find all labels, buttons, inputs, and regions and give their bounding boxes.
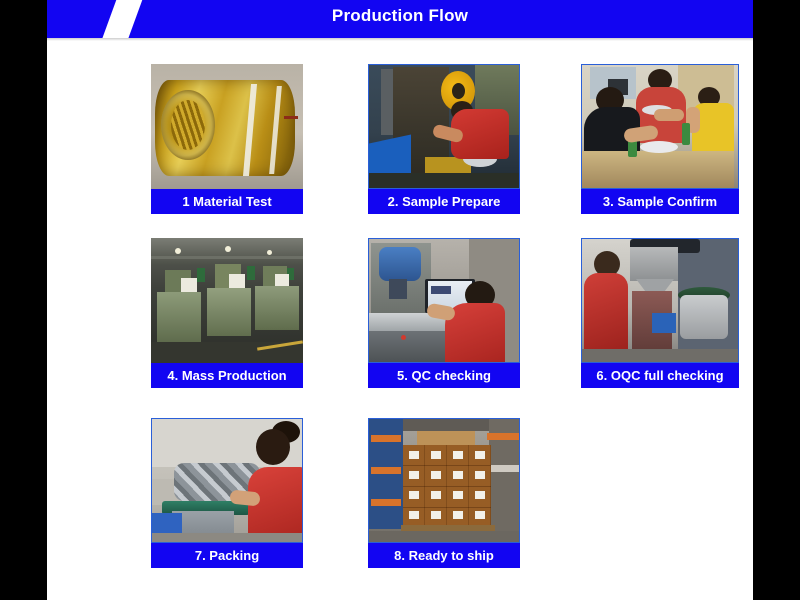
flow-step-4-label: 4. Mass Production	[151, 363, 303, 388]
flow-step-6-label: 6. OQC full checking	[581, 363, 739, 388]
flow-step-8[interactable]: 8. Ready to ship	[368, 418, 520, 568]
flow-step-3[interactable]: 3. Sample Confirm	[581, 64, 739, 214]
flow-step-2-label: 2. Sample Prepare	[368, 189, 520, 214]
flow-step-3-photo	[581, 64, 739, 189]
flow-step-8-label: 8. Ready to ship	[368, 543, 520, 568]
flow-step-7-label: 7. Packing	[151, 543, 303, 568]
flow-step-5[interactable]: 5. QC checking	[368, 238, 520, 388]
flow-step-1-photo	[151, 64, 303, 189]
flow-step-5-photo	[368, 238, 520, 363]
brass-coil-image	[151, 64, 303, 189]
flow-step-6-photo	[581, 238, 739, 363]
flow-step-5-label: 5. QC checking	[368, 363, 520, 388]
packing-image	[152, 419, 302, 542]
flow-step-1-label: 1 Material Test	[151, 189, 303, 214]
slide-header: Production Flow	[47, 0, 753, 38]
qc-checking-image	[369, 239, 519, 362]
flow-step-2[interactable]: 2. Sample Prepare	[368, 64, 520, 214]
flow-step-2-photo	[368, 64, 520, 189]
flow-step-8-photo	[368, 418, 520, 543]
flow-step-4[interactable]: 4. Mass Production	[151, 238, 303, 388]
flow-step-6[interactable]: 6. OQC full checking	[581, 238, 739, 388]
flow-step-7-photo	[151, 418, 303, 543]
page-title: Production Flow	[47, 6, 753, 26]
production-flow-grid: 1 Material Test	[47, 40, 753, 600]
mass-production-image	[151, 238, 303, 363]
flow-step-1[interactable]: 1 Material Test	[151, 64, 303, 214]
sample-confirm-image	[582, 65, 738, 188]
flow-step-4-photo	[151, 238, 303, 363]
slide-frame: Production Flow 1 Material Test	[47, 0, 753, 600]
flow-step-3-label: 3. Sample Confirm	[581, 189, 739, 214]
flow-step-7[interactable]: 7. Packing	[151, 418, 303, 568]
press-machine-image	[369, 65, 519, 188]
oqc-full-checking-image	[582, 239, 738, 362]
ready-to-ship-image	[369, 419, 519, 542]
